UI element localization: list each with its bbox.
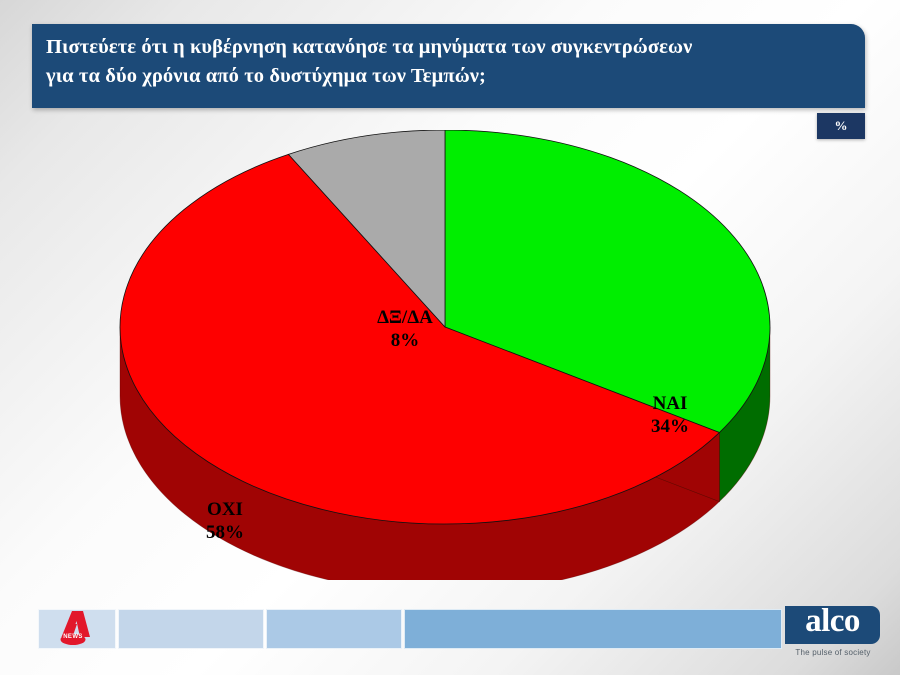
- footer-bar: [0, 605, 900, 653]
- pie-top-faces: [120, 130, 770, 524]
- alco-wordmark: alco: [785, 603, 880, 640]
- footer-segment-4: [404, 609, 782, 649]
- page-title: Πιστεύετε ότι η κυβέρνηση κατανόησε τα μ…: [46, 33, 846, 91]
- alpha-news-logo-icon: [52, 610, 94, 646]
- footer-segment-3: [266, 609, 402, 649]
- footer-segment-2: [118, 609, 264, 649]
- pie-chart-svg: [0, 130, 900, 580]
- alco-logo: alco: [785, 606, 880, 644]
- header-bar: Πιστεύετε ότι η κυβέρνηση κατανόησε τα μ…: [32, 24, 865, 108]
- slide-canvas: Πιστεύετε ότι η κυβέρνηση κατανόησε τα μ…: [0, 0, 900, 675]
- alpha-news-label: NEWS: [56, 634, 90, 640]
- pie-chart: ΝΑΙ 34% ΟΧΙ 58% ΔΞ/ΔΑ 8%: [0, 130, 900, 580]
- alco-tagline: The pulse of society: [780, 648, 886, 657]
